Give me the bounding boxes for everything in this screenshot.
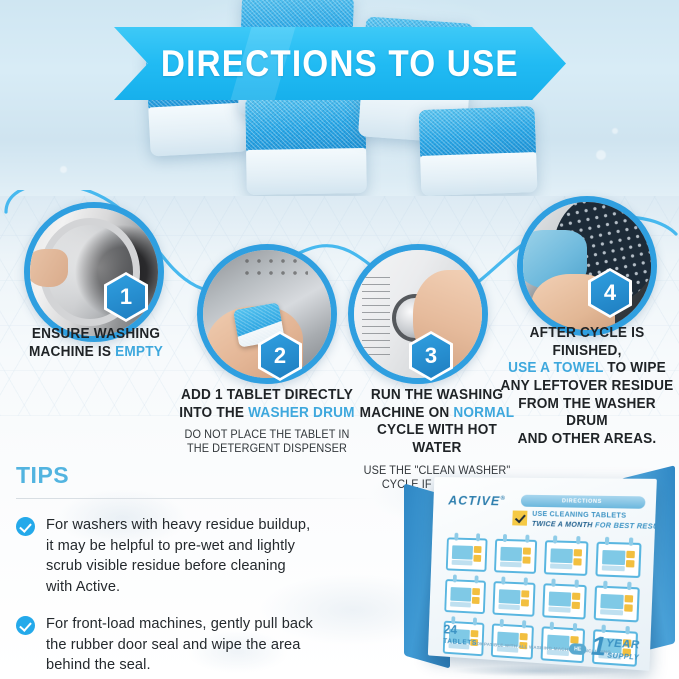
product-box: ACTIVE® DIRECTIONS USE CLEANING TABLETS … — [404, 466, 679, 679]
tablet-right-front — [419, 106, 538, 196]
tablet-count-number: 24 — [443, 623, 457, 636]
caption-line-1: ENSURE WASHING — [32, 326, 160, 342]
step-4-photo — [517, 196, 657, 336]
water-droplet — [596, 150, 606, 160]
calendar-icon — [595, 542, 641, 578]
directions-line-2-rest: FOR BEST RESULTS — [593, 522, 657, 531]
tips-divider — [16, 498, 376, 499]
tip-text: For washers with heavy residue buildup, … — [46, 515, 314, 598]
badge-hexagon: 4 — [591, 271, 629, 315]
tips-title: TIPS — [16, 462, 376, 489]
caption-line-1: AFTER CYCLE IS FINISHED, — [530, 325, 645, 359]
calendar-icon — [492, 581, 535, 617]
step-number: 3 — [425, 345, 437, 367]
caption-line-2-pre: MACHINE IS — [29, 344, 115, 360]
tip-item: For washers with heavy residue buildup, … — [16, 515, 376, 598]
calendar-icon — [444, 579, 486, 614]
calendar-icon — [544, 540, 589, 576]
hand — [25, 249, 69, 287]
box-front-panel: ACTIVE® DIRECTIONS USE CLEANING TABLETS … — [428, 477, 657, 671]
caption-highlight: USE A TOWEL — [508, 360, 603, 376]
drum-holes — [241, 255, 308, 275]
wiping-washer-drum-photo — [523, 202, 651, 330]
calendar-icon — [594, 585, 640, 622]
caption-line-2-post: TO WIPE — [603, 360, 666, 376]
check-circle-icon — [16, 616, 35, 635]
tablet-white-layer — [246, 148, 367, 195]
step-number: 1 — [120, 286, 132, 308]
brand-logo: ACTIVE® — [448, 493, 506, 509]
caption-line-2-pre: INTO THE — [179, 405, 248, 421]
water-droplet — [60, 166, 67, 173]
tip-text: For front-load machines, gently pull bac… — [46, 614, 314, 676]
step-1-caption: ENSURE WASHING MACHINE IS EMPTY — [17, 326, 175, 361]
supply-number: 1 — [591, 632, 607, 659]
page-title: DIRECTIONS TO USE — [161, 43, 519, 85]
calendar-icon — [494, 539, 537, 574]
caption-highlight: EMPTY — [115, 344, 163, 360]
tablet-white-layer — [148, 103, 248, 157]
trademark-symbol: ® — [500, 496, 506, 502]
caption-highlight: WASHER DRUM — [248, 405, 355, 421]
calendar-icon — [542, 583, 587, 619]
step-4-caption: AFTER CYCLE IS FINISHED, USE A TOWEL TO … — [501, 325, 674, 449]
water-droplet — [612, 128, 618, 134]
step-2-caption: ADD 1 TABLET DIRECTLY INTO THE WASHER DR… — [178, 387, 357, 456]
tablet-center-front — [245, 95, 367, 195]
tip-item: For front-load machines, gently pull bac… — [16, 614, 376, 676]
tips-section: TIPS For washers with heavy residue buil… — [16, 462, 376, 676]
calendar-icon — [446, 537, 488, 572]
tablet-blue-layer — [245, 95, 366, 152]
he-badge: HE — [569, 643, 587, 655]
badge-hexagon: 1 — [107, 275, 145, 319]
tablet-blue-layer — [419, 106, 537, 158]
directions-bar-label: DIRECTIONS — [562, 498, 602, 505]
step-number: 2 — [274, 345, 286, 367]
step-number: 4 — [604, 282, 616, 304]
check-circle-icon — [16, 517, 35, 536]
caption-line-3: ANY LEFTOVER RESIDUE — [501, 378, 674, 394]
directions-emphasis: TWICE A MONTH — [532, 521, 593, 529]
directions-line-2: TWICE A MONTH FOR BEST RESULTS — [532, 521, 657, 531]
caption-line-1: ADD 1 TABLET DIRECTLY — [181, 387, 353, 403]
caption-line-5: AND OTHER AREAS. — [518, 431, 657, 447]
caption-line-1: RUN THE WASHING — [371, 387, 503, 403]
supply-year-label: YEAR — [606, 638, 640, 651]
step-1-photo — [24, 202, 164, 342]
brand-name: ACTIVE — [448, 493, 501, 508]
dial-scale-marks — [362, 273, 390, 355]
header-banner: DIRECTIONS TO USE — [114, 27, 566, 100]
yellow-check-icon — [512, 510, 527, 525]
caption-line-4: FROM THE WASHER DRUM — [518, 396, 656, 430]
caption-line-2-pre: MACHINE ON — [360, 405, 454, 421]
washing-machine-open-photo — [30, 208, 158, 336]
directions-bar: DIRECTIONS — [521, 495, 646, 509]
tablet-white-layer — [420, 152, 537, 196]
he-badge-label: HE — [574, 646, 581, 653]
badge-hexagon: 2 — [261, 334, 299, 378]
infographic-page: DIRECTIONS TO USE 1 ENSURE WASHING MACHI… — [0, 0, 679, 679]
caption-line-3: CYCLE WITH HOT WATER — [377, 422, 497, 456]
directions-line-1: USE CLEANING TABLETS — [532, 511, 626, 520]
step-2-subcaption: DO NOT PLACE THE TABLET IN THE DETERGENT… — [178, 428, 357, 456]
badge-hexagon: 3 — [412, 334, 450, 378]
